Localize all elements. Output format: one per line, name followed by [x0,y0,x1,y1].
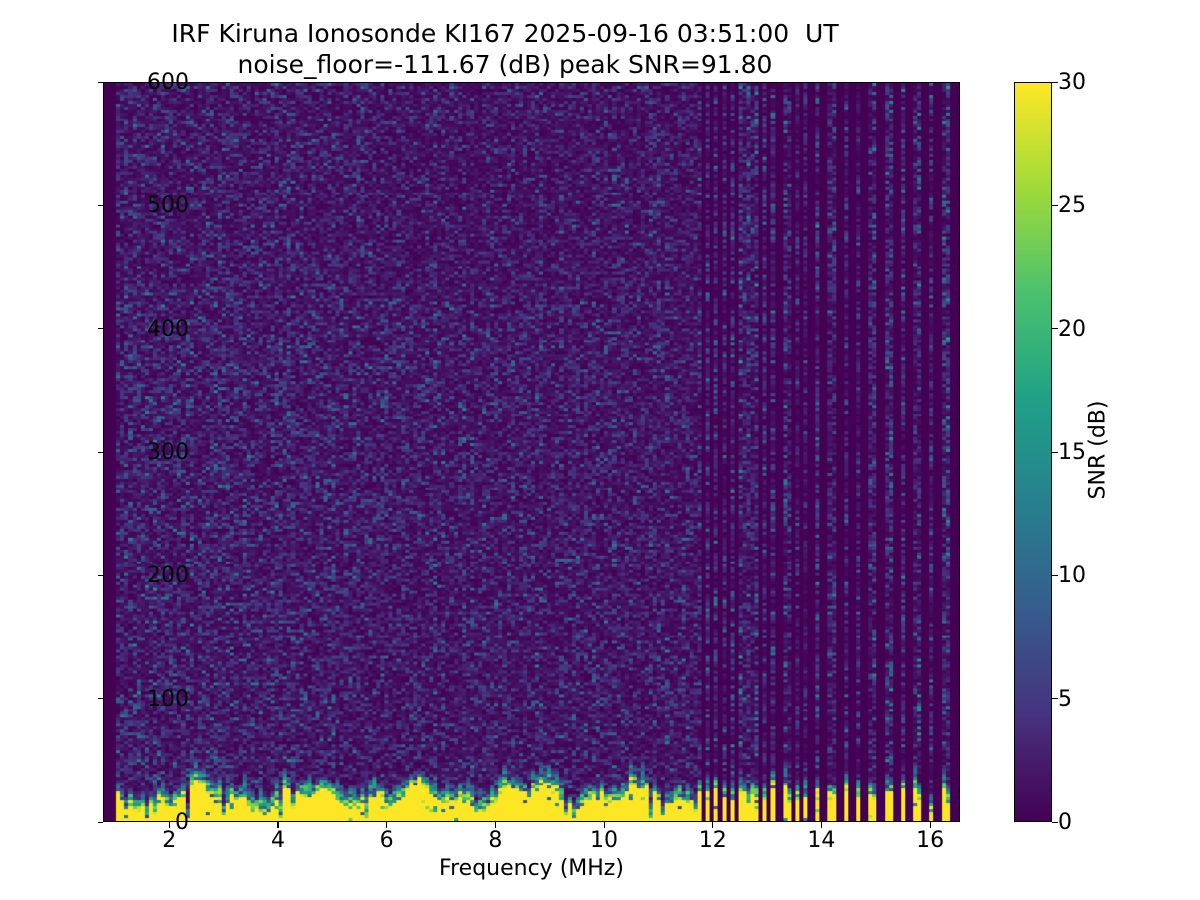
x-tick-label: 16 [870,828,990,853]
y-tick-mark [98,328,104,329]
y-tick-mark [98,205,104,206]
y-tick-label: 300 [0,440,189,465]
colorbar-tick-mark [1052,328,1058,329]
x-axis-label: Frequency (MHz) [103,856,960,881]
y-tick-mark [98,452,104,453]
x-tick-label: 2 [109,828,229,853]
x-tick-mark [386,822,387,828]
title-line-1: IRF Kiruna Ionosonde KI167 2025-09-16 03… [0,18,1010,49]
y-tick-mark [98,575,104,576]
x-tick-label: 12 [653,828,773,853]
x-tick-label: 6 [327,828,447,853]
y-tick-mark [98,698,104,699]
colorbar-tick-mark [1052,822,1058,823]
colorbar-gradient [1015,83,1051,821]
colorbar-tick-label: 25 [1058,193,1178,218]
colorbar-tick-mark [1052,575,1058,576]
x-tick-mark [169,822,170,828]
ionogram-figure: IRF Kiruna Ionosonde KI167 2025-09-16 03… [0,0,1200,900]
x-tick-mark [712,822,713,828]
colorbar-tick-label: 15 [1058,440,1178,465]
x-tick-mark [930,822,931,828]
ionogram-heatmap-canvas [104,83,959,821]
y-tick-label: 500 [0,193,189,218]
colorbar-tick-mark [1052,205,1058,206]
colorbar-tick-label: 0 [1058,810,1178,835]
x-tick-label: 14 [761,828,881,853]
heatmap-plot-area [103,82,960,822]
colorbar-tick-mark [1052,82,1058,83]
x-tick-mark [604,822,605,828]
y-tick-label: 600 [0,70,189,95]
x-tick-label: 10 [544,828,664,853]
x-tick-mark [495,822,496,828]
colorbar-tick-label: 5 [1058,687,1178,712]
y-tick-label: 100 [0,687,189,712]
colorbar-tick-mark [1052,452,1058,453]
y-tick-label: 200 [0,563,189,588]
y-tick-mark [98,822,104,823]
colorbar-tick-label: 20 [1058,317,1178,342]
x-tick-label: 8 [435,828,555,853]
y-tick-mark [98,82,104,83]
y-tick-label: 400 [0,317,189,342]
colorbar-tick-label: 10 [1058,563,1178,588]
colorbar-tick-label: 30 [1058,70,1178,95]
colorbar [1014,82,1052,822]
x-tick-label: 4 [218,828,338,853]
colorbar-label: SNR (dB) [1086,401,1111,500]
x-tick-mark [821,822,822,828]
colorbar-tick-mark [1052,698,1058,699]
x-tick-mark [277,822,278,828]
